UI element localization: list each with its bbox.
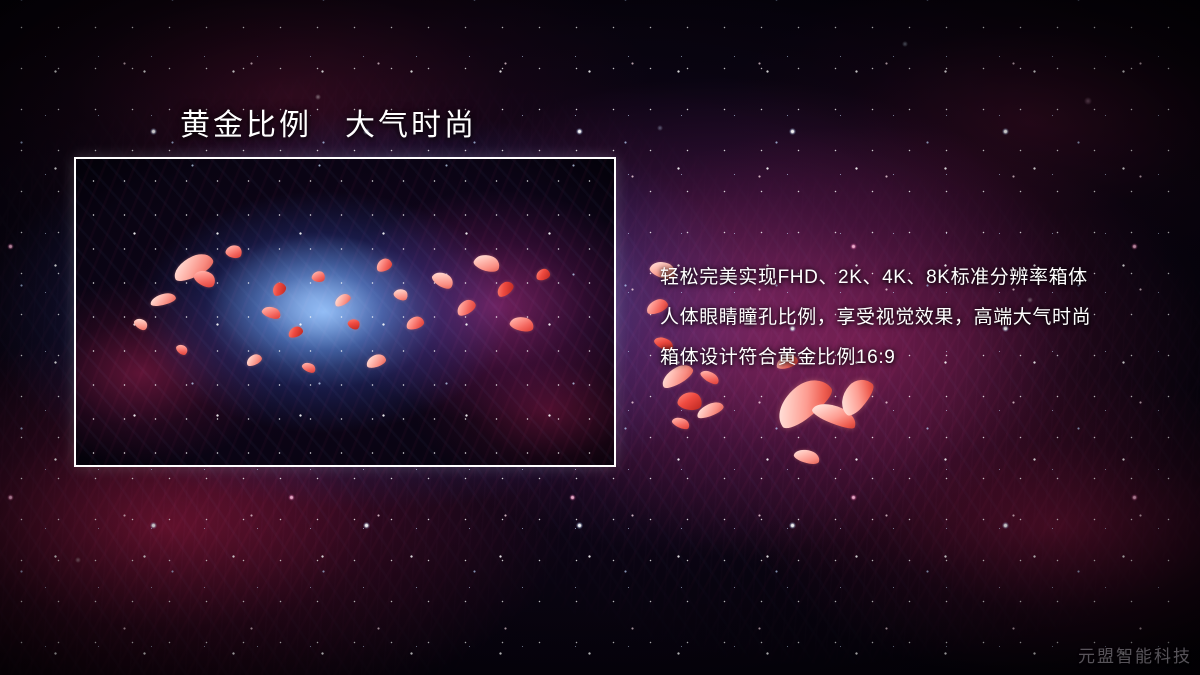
description-line-2: 人体眼睛瞳孔比例，享受视觉效果，高端大气时尚 [660, 298, 1160, 338]
petal-shape [671, 415, 692, 432]
page-title: 黄金比例 大气时尚 [180, 100, 477, 144]
presentation-slide: 黄金比例 大气时尚 轻松完美实现FHD、2K、4K、8K标准分辨率箱体 人体眼睛… [0, 0, 1200, 675]
framed-image-panel[interactable] [74, 157, 616, 467]
watermark: 元盟智能科技 [1078, 642, 1192, 667]
panel-starfield [76, 159, 614, 465]
petal-shape [793, 446, 822, 466]
petal-shape [769, 371, 838, 433]
description-line-1: 轻松完美实现FHD、2K、4K、8K标准分辨率箱体 [660, 258, 1160, 298]
description-line-3: 箱体设计符合黄金比例16:9 [660, 338, 1160, 378]
description-text-block: 轻松完美实现FHD、2K、4K、8K标准分辨率箱体 人体眼睛瞳孔比例，享受视觉效… [660, 258, 1160, 378]
